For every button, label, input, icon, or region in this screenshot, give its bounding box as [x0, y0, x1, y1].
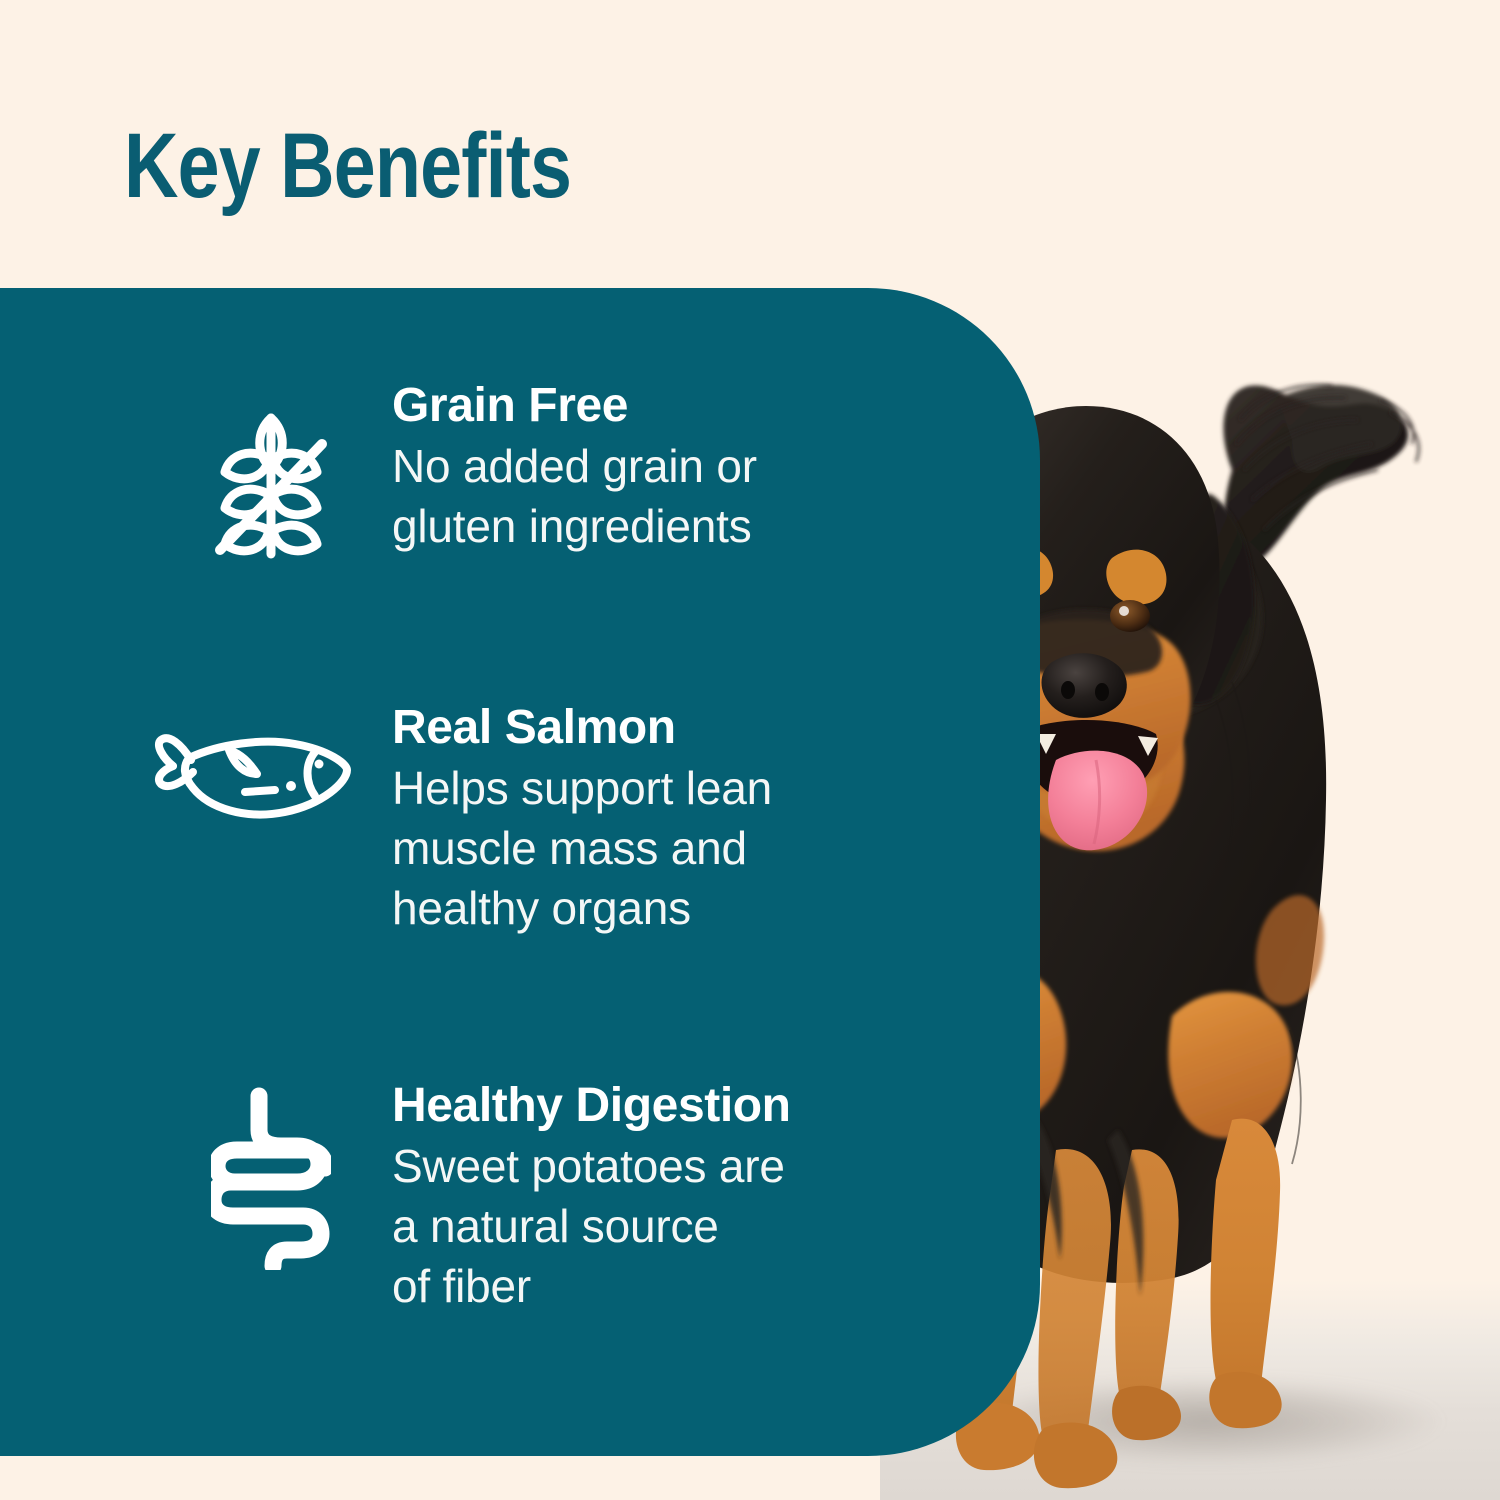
benefit-text-group: Grain Free No added grain or gluten ingr… [392, 378, 757, 556]
dog-tail [1223, 385, 1408, 565]
benefit-title: Grain Free [392, 378, 757, 434]
benefit-title: Healthy Digestion [392, 1078, 791, 1134]
benefit-item-real-salmon: Real Salmon Helps support lean muscle ma… [118, 700, 772, 938]
benefit-description: Helps support lean muscle mass and healt… [392, 758, 772, 938]
wheat-crossed-out-icon [150, 378, 392, 560]
benefit-desc-line: gluten ingredients [392, 496, 757, 556]
benefit-desc-line: a natural source [392, 1196, 791, 1256]
benefit-item-healthy-digestion: Healthy Digestion Sweet potatoes are a n… [150, 1078, 791, 1316]
right-eye [1110, 600, 1150, 632]
intestine-icon [150, 1078, 392, 1270]
benefit-desc-line: of fiber [392, 1256, 791, 1316]
benefit-desc-line: Sweet potatoes are [392, 1136, 791, 1196]
salmon-fish-icon [118, 700, 392, 824]
page-title: Key Benefits [124, 118, 571, 214]
benefit-desc-line: No added grain or [392, 436, 757, 496]
benefit-item-grain-free: Grain Free No added grain or gluten ingr… [150, 378, 757, 560]
benefit-desc-line: Helps support lean [392, 758, 772, 818]
benefit-text-group: Real Salmon Helps support lean muscle ma… [392, 700, 772, 938]
benefit-description: Sweet potatoes are a natural source of f… [392, 1136, 791, 1316]
benefit-text-group: Healthy Digestion Sweet potatoes are a n… [392, 1078, 791, 1316]
benefit-desc-line: muscle mass and [392, 818, 772, 878]
benefit-description: No added grain or gluten ingredients [392, 436, 757, 556]
key-benefits-graphic: Key Benefits Grain Free [0, 0, 1500, 1500]
benefit-desc-line: healthy organs [392, 878, 772, 938]
benefit-title: Real Salmon [392, 700, 772, 756]
